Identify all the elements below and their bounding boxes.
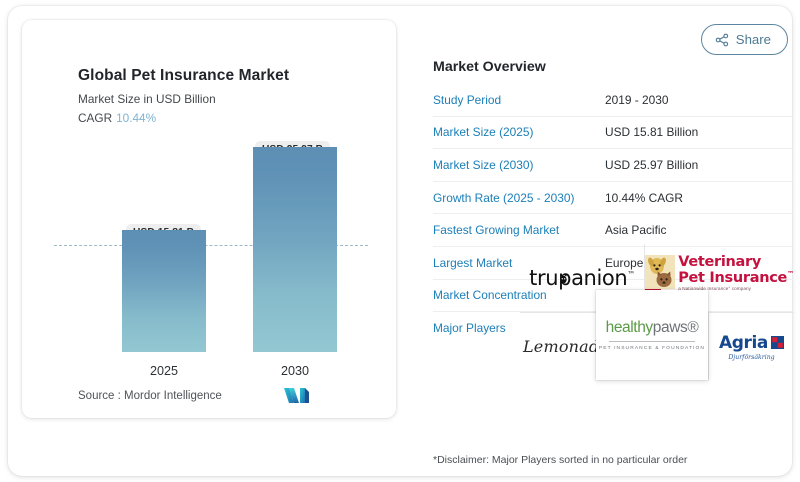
table-row: Market Size (2025) USD 15.81 Billion [433, 117, 793, 150]
healthypaws-tagline: PET INSURANCE & FOUNDATION [599, 346, 705, 351]
row-key: Study Period [433, 93, 605, 107]
bar-2025[interactable] [122, 230, 206, 352]
report-card: Global Pet Insurance Market Market Size … [8, 6, 792, 476]
chart-panel: Global Pet Insurance Market Market Size … [22, 20, 396, 418]
row-key: Fastest Growing Market [433, 223, 605, 237]
logo-healthy-paws[interactable]: healthypaws® PET INSURANCE & FOUNDATION [596, 290, 708, 380]
vpi-text-block: Veterinary Pet Insurance™ a Nationwide I… [678, 255, 794, 292]
share-button[interactable]: Share [701, 24, 788, 55]
bar-2030[interactable] [253, 147, 337, 352]
row-value: 10.44% CAGR [605, 191, 683, 205]
chart-title: Global Pet Insurance Market [78, 67, 289, 85]
agria-logo-wrap: Agria Djurförsäkring [719, 333, 784, 361]
x-axis-label-2030: 2030 [253, 364, 337, 378]
vpi-tm: ™ [787, 270, 794, 278]
mordor-intelligence-logo [284, 387, 310, 404]
healthypaws-wordmark: healthypaws® [606, 319, 699, 337]
chart-subtitle: Market Size in USD Billion [78, 92, 216, 106]
healthypaws-part1: healthy [606, 319, 653, 336]
healthypaws-tm: ® [687, 319, 698, 336]
healthypaws-part2: paws [653, 319, 688, 336]
healthypaws-rule [609, 341, 695, 342]
table-row: Market Size (2030) USD 25.97 Billion [433, 149, 793, 182]
disclaimer-text: *Disclaimer: Major Players sorted in no … [433, 454, 687, 466]
table-row: Fastest Growing Market Asia Pacific [433, 214, 793, 247]
row-value: 2019 - 2030 [605, 93, 668, 107]
chart-cagr: CAGR10.44% [78, 111, 156, 125]
cagr-label: CAGR [78, 111, 112, 125]
row-value: USD 25.97 Billion [605, 158, 698, 172]
row-key: Market Size (2025) [433, 125, 605, 139]
row-value: USD 15.81 Billion [605, 125, 698, 139]
report-page: Global Pet Insurance Market Market Size … [0, 0, 800, 482]
x-axis-label-2025: 2025 [122, 364, 206, 378]
cat-face-icon [559, 273, 568, 284]
table-row: Growth Rate (2025 - 2030) 10.44% CAGR [433, 182, 793, 215]
vpi-line1: Veterinary [678, 255, 794, 270]
source-text: Source : Mordor Intelligence [78, 390, 222, 402]
trupanion-wordmark: trupanion™ [529, 266, 635, 290]
bar-chart-plot: USD 15.81 B USD 25.97 B 2025 2030 [36, 132, 382, 380]
row-key: Growth Rate (2025 - 2030) [433, 191, 605, 205]
agria-wordmark: Agria [719, 333, 768, 353]
overview-title: Market Overview [433, 59, 546, 75]
table-row: Study Period 2019 - 2030 [433, 84, 793, 117]
major-players-logo-grid: trupanion™ [520, 244, 794, 380]
agria-tagline: Djurförsäkring [719, 354, 784, 361]
logo-agria[interactable]: Agria Djurförsäkring [709, 313, 794, 380]
market-overview-panel: Share Market Overview Study Period 2019 … [422, 20, 794, 475]
share-nodes-icon [715, 33, 729, 47]
row-value: Asia Pacific [605, 223, 666, 237]
source-row: Source : Mordor Intelligence [78, 387, 310, 404]
trupanion-text: trupanion [529, 266, 627, 290]
agria-square-icon [771, 336, 784, 349]
vpi-line2: Pet Insurance™ [678, 271, 794, 286]
vpi-line2-text: Pet Insurance [678, 270, 787, 286]
trupanion-tm: ™ [627, 270, 635, 279]
row-key: Market Size (2030) [433, 158, 605, 172]
cagr-value: 10.44% [116, 111, 156, 125]
agria-top-row: Agria [719, 333, 784, 353]
share-label: Share [736, 32, 771, 47]
